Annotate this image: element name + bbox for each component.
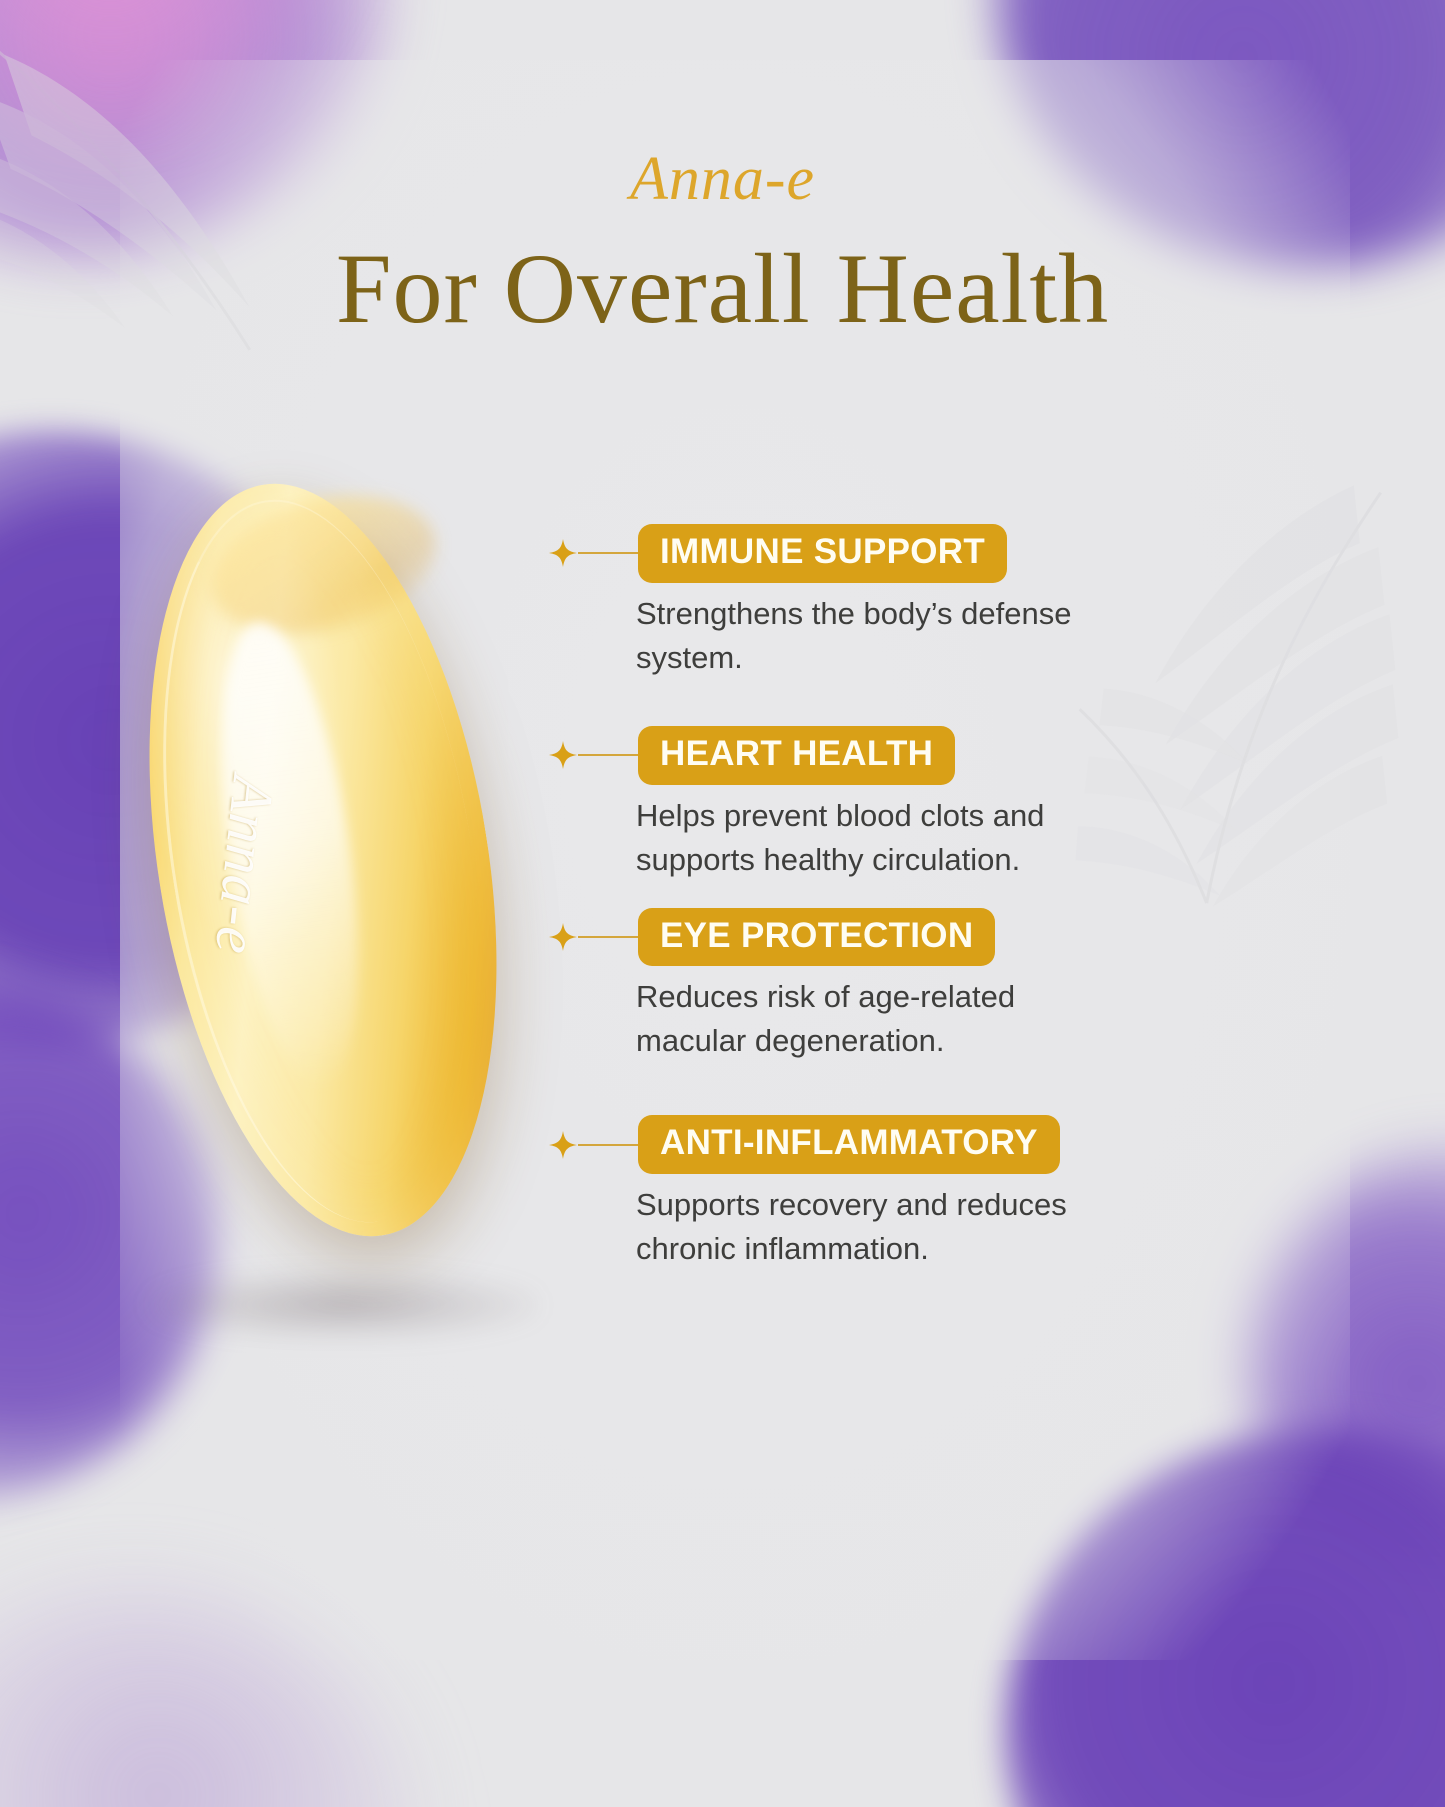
page-title: For Overall Health xyxy=(0,236,1445,341)
feature-title-badge[interactable]: IMMUNE SUPPORT xyxy=(638,524,1007,583)
feature-connector-line xyxy=(578,754,640,756)
capsule-drop-shadow xyxy=(148,1270,538,1340)
feature-title-badge[interactable]: ANTI-INFLAMMATORY xyxy=(638,1115,1060,1174)
feature-badge-row: IMMUNE SUPPORT xyxy=(548,524,1168,583)
sparkle-icon xyxy=(548,538,578,568)
sparkle-icon xyxy=(548,740,578,770)
feature-connector-line xyxy=(578,1144,640,1146)
feature-item-eye-protection: EYE PROTECTION Reduces risk of age-relat… xyxy=(548,908,1168,1064)
feature-connector-line xyxy=(578,552,640,554)
feature-description: Supports recovery and reduces chronic in… xyxy=(636,1183,1106,1271)
feature-badge-row: HEART HEALTH xyxy=(548,726,1168,785)
feature-connector-line xyxy=(578,936,640,938)
feature-item-heart-health: HEART HEALTH Helps prevent blood clots a… xyxy=(548,726,1168,882)
feature-description: Strengthens the body’s defense system. xyxy=(636,592,1106,680)
header: Anna-e For Overall Health xyxy=(0,0,1445,341)
feature-badge-row: ANTI-INFLAMMATORY xyxy=(548,1115,1168,1174)
brand-name: Anna-e xyxy=(0,148,1445,210)
feature-item-immune-support: IMMUNE SUPPORT Strengthens the body’s de… xyxy=(548,524,1168,680)
feature-description: Helps prevent blood clots and supports h… xyxy=(636,794,1106,882)
feature-title-badge[interactable]: HEART HEALTH xyxy=(638,726,955,785)
feature-description: Reduces risk of age-related macular dege… xyxy=(636,975,1106,1063)
feature-badge-row: EYE PROTECTION xyxy=(548,908,1168,967)
feature-item-anti-inflammatory: ANTI-INFLAMMATORY Supports recovery and … xyxy=(548,1115,1168,1271)
sparkle-icon xyxy=(548,922,578,952)
product-capsule-image: Anna-e xyxy=(138,470,538,1270)
feature-list: IMMUNE SUPPORT Strengthens the body’s de… xyxy=(548,524,1168,1271)
sparkle-icon xyxy=(548,1130,578,1160)
feature-title-badge[interactable]: EYE PROTECTION xyxy=(638,908,995,967)
